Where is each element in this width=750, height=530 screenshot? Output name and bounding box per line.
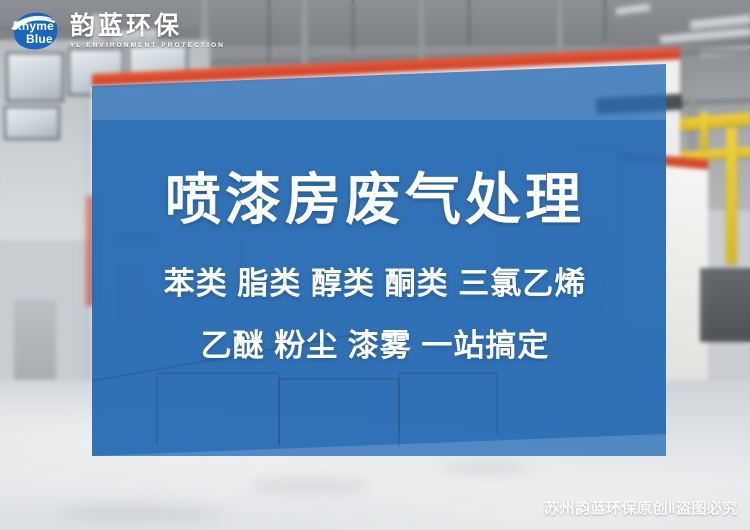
crane-post (726, 128, 737, 264)
logo-mark-top-text: Rhyme (13, 20, 54, 32)
safety-railing (278, 378, 400, 446)
brand-name-en: YL ENVIRONMENT PROTECTION (70, 42, 225, 49)
logo-mark-bottom-text: Blue (26, 33, 53, 45)
hanging-wire (604, 0, 606, 40)
promo-banner: 韵蓝环保 YL ENVIRONMENT PROTECTION Rhyme Blu… (0, 0, 750, 530)
floor-smudge (440, 462, 530, 474)
control-cabinet (14, 300, 56, 384)
floor-smudge (250, 478, 370, 494)
brand-wordmark: 韵蓝环保 YL ENVIRONMENT PROTECTION (70, 13, 225, 49)
wall-window (4, 106, 60, 140)
copyright-watermark: 苏州韵蓝环保原创‖盗图必究 (544, 497, 738, 518)
hanging-wire (352, 0, 354, 52)
crane-post (700, 112, 708, 150)
safety-railing (156, 372, 280, 444)
floor-smudge (60, 506, 220, 520)
brand-name-cn: 韵蓝环保 (70, 13, 225, 40)
hanging-wire (468, 0, 470, 44)
machinery-unit (700, 268, 750, 342)
safety-railing (398, 372, 498, 434)
hanging-wire (268, 0, 270, 62)
wall-window (6, 52, 64, 102)
